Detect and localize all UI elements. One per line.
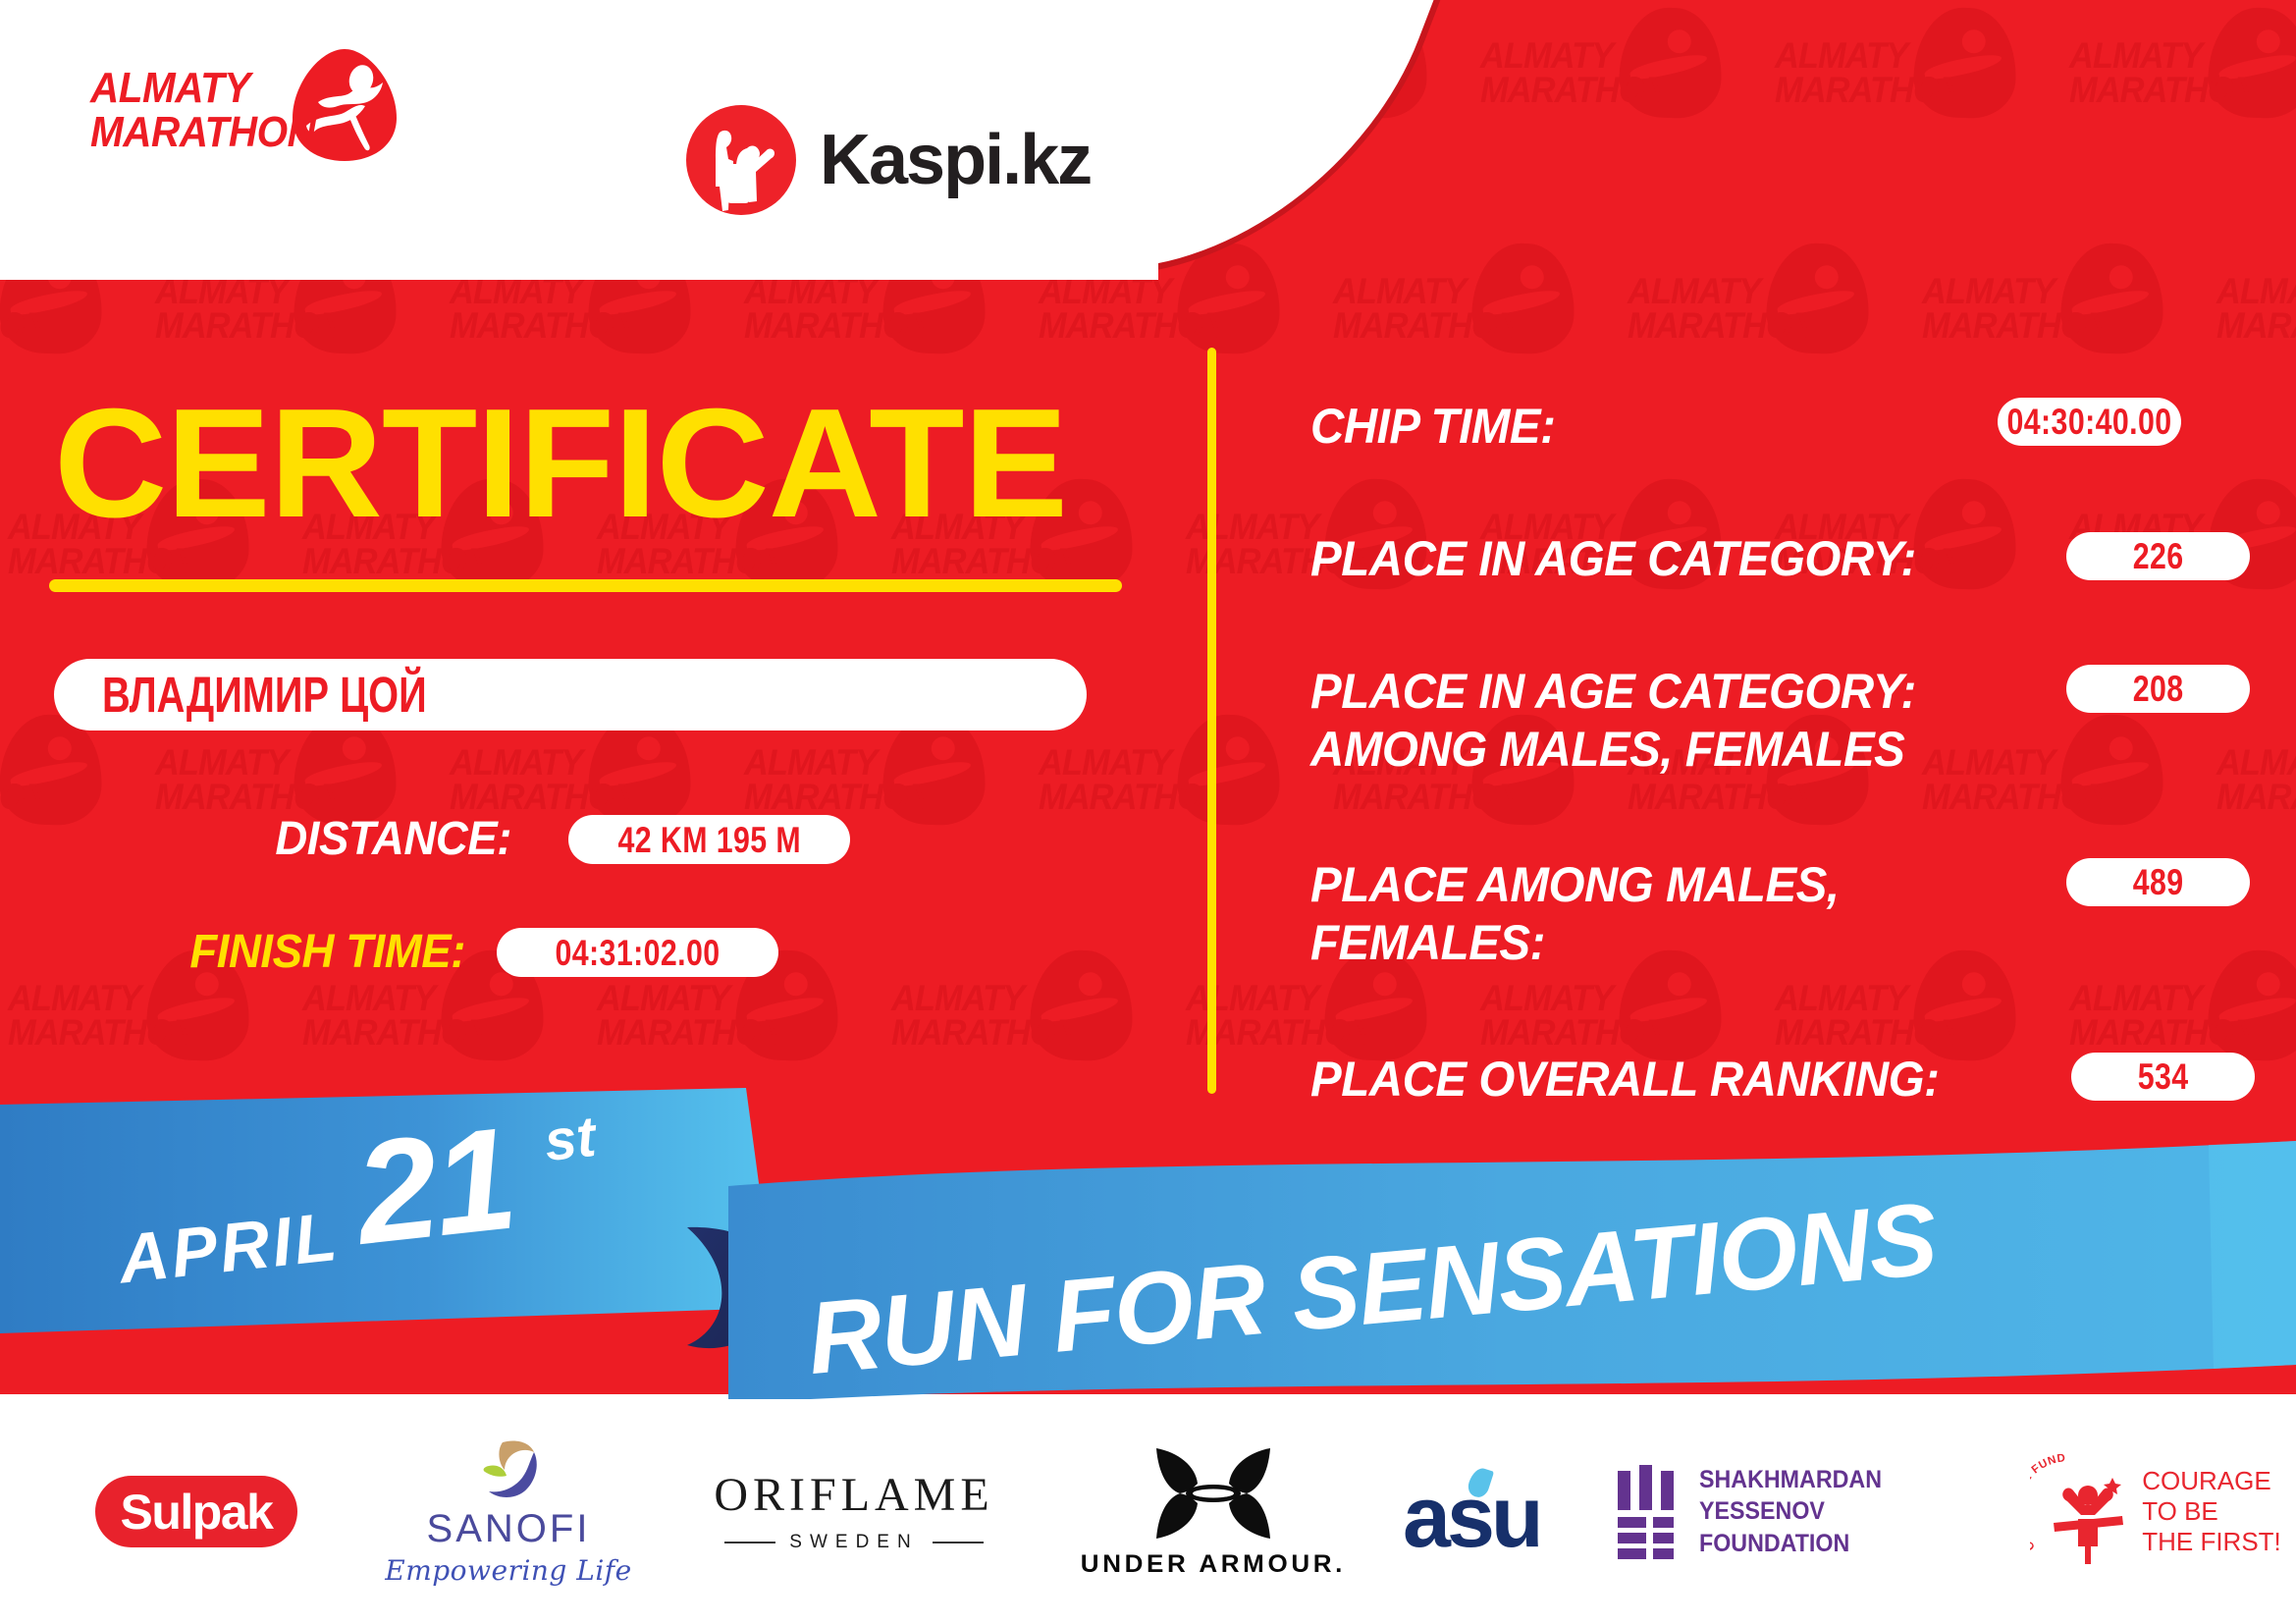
participant-name-value: ВЛАДИМИР ЦОЙ xyxy=(102,670,427,720)
distance-row: DISTANCE: 42 KM 195 M xyxy=(269,815,850,864)
watermark-tile: ALMATYMARATHON xyxy=(1767,0,2061,236)
header: ALMATYMARATHON Kaspi.kz xyxy=(0,0,1178,280)
almaty-marathon-wordmark: ALMATYMARATHON xyxy=(90,67,285,155)
place-in-age-category-among-value: 208 xyxy=(2133,671,2184,707)
finish-time-value: 04:31:02.00 xyxy=(556,935,721,971)
watermark-text: ALMATYMARATHON xyxy=(1333,275,1497,344)
oriflame-wordmark: ORIFLAME xyxy=(714,1472,993,1519)
sponsor-under-armour[interactable]: UNDER ARMOUR. xyxy=(1056,1399,1370,1624)
place-in-age-category-label: PLACE IN AGE CATEGORY: xyxy=(1310,530,1916,588)
almaty-marathon-logo[interactable]: ALMATYMARATHON xyxy=(90,47,414,165)
chip-time-value-pill: 04:30:40.00 xyxy=(1998,398,2181,446)
page-title: CERTIFICATE xyxy=(54,386,1067,541)
distance-value: 42 KM 195 M xyxy=(617,822,801,858)
place-in-age-category-among-value-pill: 208 xyxy=(2066,665,2250,713)
oriflame-right-rule xyxy=(933,1542,984,1543)
watermark-text: ALMATYMARATHON xyxy=(8,982,172,1051)
sponsor-yessenov-foundation[interactable]: SHAKHMARDAN YESSENOV FOUNDATION xyxy=(1618,1399,2010,1624)
sanofi-bird-icon xyxy=(473,1438,544,1501)
place-in-age-category-among-label: PLACE IN AGE CATEGORY: AMONG MALES, FEMA… xyxy=(1310,663,1916,779)
courage-runner-icon: CORPORATE FUND xyxy=(2030,1454,2132,1570)
watermark-text: ALMATYMARATHON xyxy=(0,746,25,815)
watermark-tile: ALMATYMARATHON xyxy=(2061,0,2296,236)
watermark-text: ALMATYMARATHON xyxy=(302,982,466,1051)
watermark-text: ALMATYMARATHON xyxy=(1039,746,1202,815)
chip-time-label: CHIP TIME: xyxy=(1310,398,1555,456)
sanofi-tagline: Empowering Life xyxy=(385,1557,632,1585)
sulpak-wordmark: Sulpak xyxy=(121,1488,273,1537)
watermark-text: ALMATYMARATHON xyxy=(744,275,908,344)
watermark-text: ALMATYMARATHON xyxy=(0,275,25,344)
watermark-text: ALMATYMARATHON xyxy=(155,746,319,815)
sulpak-pill-logo: Sulpak xyxy=(95,1476,297,1547)
asu-logo: asu xyxy=(1403,1458,1575,1566)
under-armour-wordmark: UNDER ARMOUR. xyxy=(1081,1552,1346,1577)
sponsor-sanofi[interactable]: SANOFI Empowering Life xyxy=(361,1399,656,1624)
finish-time-row: FINISH TIME: 04:31:02.00 xyxy=(183,928,778,977)
sponsor-bar: Sulpak SANOFI Empowering Life ORIFLAME S… xyxy=(0,1399,2296,1624)
logo-line-1: ALMATY xyxy=(90,64,250,112)
event-day-ordinal: st xyxy=(542,1109,599,1170)
watermark-text: ALMATYMARATHON xyxy=(2069,982,2233,1051)
kaspi-family-circle-icon xyxy=(684,103,798,217)
place-among-males-females-row: PLACE AMONG MALES, FEMALES: 489 xyxy=(1310,856,2296,972)
watermark-text: ALMATYMARATHON xyxy=(1775,39,1939,108)
yessenov-wordmark: SHAKHMARDAN YESSENOV FOUNDATION xyxy=(1699,1464,1989,1560)
watermark-text: ALMATYMARATHON xyxy=(450,275,614,344)
yessenov-bars-icon xyxy=(1618,1465,1674,1559)
watermark-text: ALMATYMARATHON xyxy=(1480,982,1644,1051)
chip-time-row: CHIP TIME: 04:30:40.00 xyxy=(1310,398,2296,456)
watermark-text: ALMATYMARATHON xyxy=(155,275,319,344)
distance-label: DISTANCE: xyxy=(275,816,511,863)
sponsor-oriflame[interactable]: ORIFLAME SWEDEN xyxy=(687,1399,1021,1624)
watermark-text: ALMATYMARATHON xyxy=(744,746,908,815)
kaspi-logo[interactable]: Kaspi.kz xyxy=(684,103,1091,217)
finish-time-value-pill: 04:31:02.00 xyxy=(497,928,778,977)
chip-time-value: 04:30:40.00 xyxy=(2006,404,2171,440)
watermark-text: ALMATYMARATHON xyxy=(891,982,1055,1051)
finish-time-label: FINISH TIME: xyxy=(189,929,465,976)
title-underline-rule xyxy=(49,579,1122,592)
watermark-text: ALMATYMARATHON xyxy=(450,746,614,815)
participant-name-field[interactable]: ВЛАДИМИР ЦОЙ xyxy=(54,659,1087,731)
event-month: APRIL xyxy=(116,1202,343,1294)
watermark-tile: ALMATYMARATHON xyxy=(0,707,147,943)
place-in-age-category-among-row: PLACE IN AGE CATEGORY: AMONG MALES, FEMA… xyxy=(1310,663,2296,779)
sponsor-asu[interactable]: asu xyxy=(1357,1399,1622,1624)
oriflame-country: SWEDEN xyxy=(789,1533,918,1551)
courage-wordmark: COURAGE TO BE THE FIRST! xyxy=(2142,1466,2281,1556)
event-day: 21 xyxy=(349,1107,520,1268)
sponsor-courage-to-be-the-first[interactable]: CORPORATE FUND COURAGE TO BE THE FIRST! xyxy=(2024,1399,2287,1624)
place-in-age-category-value: 226 xyxy=(2133,538,2184,574)
place-among-males-females-value-pill: 489 xyxy=(2066,858,2250,906)
sanofi-wordmark: SANOFI xyxy=(427,1509,591,1548)
certificate-page: ALMATYMARATHONALMATYMARATHONALMATYMARATH… xyxy=(0,0,2296,1624)
watermark-text: ALMATYMARATHON xyxy=(1039,275,1202,344)
watermark-text: ALMATYMARATHON xyxy=(1628,275,1791,344)
watermark-text: ALMATYMARATHON xyxy=(1480,39,1644,108)
watermark-text: ALMATYMARATHON xyxy=(2069,39,2233,108)
watermark-text: ALMATYMARATHON xyxy=(597,982,761,1051)
watermark-text: ALMATYMARATHON xyxy=(2216,275,2296,344)
logo-line-2: MARATHON xyxy=(90,108,315,156)
place-among-males-females-label: PLACE AMONG MALES, FEMALES: xyxy=(1310,856,1840,972)
watermark-text: ALMATYMARATHON xyxy=(1775,982,1939,1051)
place-in-age-category-value-pill: 226 xyxy=(2066,532,2250,580)
watermark-text: ALMATYMARATHON xyxy=(1922,275,2086,344)
kaspi-wordmark: Kaspi.kz xyxy=(820,125,1091,195)
oriflame-left-rule xyxy=(724,1542,775,1543)
under-armour-logo-icon xyxy=(1148,1446,1278,1541)
oriflame-sub-row: SWEDEN xyxy=(724,1533,983,1551)
distance-value-pill: 42 KM 195 M xyxy=(568,815,850,864)
watermark-tile: ALMATYMARATHON xyxy=(1472,0,1767,236)
watermark-tile: ALMATYMARATHON xyxy=(1031,707,1325,943)
sponsor-sulpak[interactable]: Sulpak xyxy=(59,1399,334,1624)
column-divider xyxy=(1207,348,1216,1094)
place-in-age-category-row: PLACE IN AGE CATEGORY: 226 xyxy=(1310,530,2296,588)
place-among-males-females-value: 489 xyxy=(2133,864,2184,900)
